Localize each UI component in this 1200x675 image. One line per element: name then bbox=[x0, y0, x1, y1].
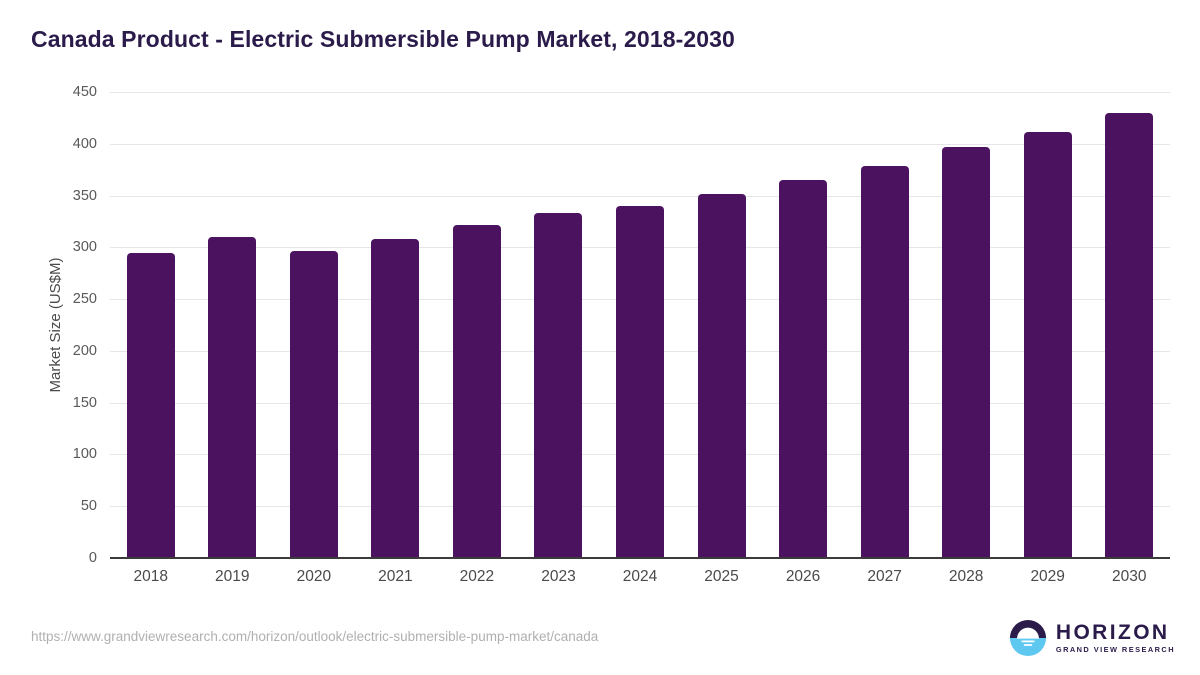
y-tick-label: 450 bbox=[45, 84, 97, 100]
x-tick-label: 2021 bbox=[350, 568, 440, 586]
y-tick-label: 200 bbox=[45, 343, 97, 359]
y-tick-label: 100 bbox=[45, 446, 97, 462]
x-tick-label: 2023 bbox=[513, 568, 603, 586]
y-tick-label: 400 bbox=[45, 136, 97, 152]
bar[interactable] bbox=[453, 225, 501, 558]
x-tick-label: 2019 bbox=[187, 568, 277, 586]
bar[interactable] bbox=[779, 180, 827, 558]
bar[interactable] bbox=[861, 166, 909, 558]
logo-wordmark: HORIZON bbox=[1056, 622, 1175, 643]
x-tick-label: 2018 bbox=[106, 568, 196, 586]
bar[interactable] bbox=[698, 194, 746, 559]
horizon-logo-icon bbox=[1009, 619, 1047, 657]
bar[interactable] bbox=[127, 253, 175, 558]
x-tick-label: 2029 bbox=[1003, 568, 1093, 586]
source-url[interactable]: https://www.grandviewresearch.com/horizo… bbox=[31, 629, 598, 644]
bar[interactable] bbox=[208, 237, 256, 558]
x-tick-label: 2026 bbox=[758, 568, 848, 586]
y-tick-label: 300 bbox=[45, 239, 97, 255]
y-tick-label: 150 bbox=[45, 395, 97, 411]
plot-area bbox=[110, 92, 1170, 558]
x-tick-label: 2028 bbox=[921, 568, 1011, 586]
horizon-logo-text: HORIZON GRAND VIEW RESEARCH bbox=[1056, 622, 1175, 653]
bar[interactable] bbox=[371, 239, 419, 558]
y-tick-label: 350 bbox=[45, 188, 97, 204]
bar[interactable] bbox=[534, 213, 582, 558]
bar[interactable] bbox=[616, 206, 664, 558]
horizon-logo[interactable]: HORIZON GRAND VIEW RESEARCH bbox=[1009, 618, 1175, 658]
y-tick-label: 250 bbox=[45, 291, 97, 307]
bar[interactable] bbox=[942, 147, 990, 558]
gridline bbox=[110, 196, 1170, 197]
y-tick-label: 50 bbox=[45, 498, 97, 514]
logo-tagline: GRAND VIEW RESEARCH bbox=[1056, 646, 1175, 653]
page-title: Canada Product - Electric Submersible Pu… bbox=[31, 26, 735, 53]
gridline bbox=[110, 144, 1170, 145]
bar[interactable] bbox=[1024, 132, 1072, 558]
x-tick-label: 2022 bbox=[432, 568, 522, 586]
x-tick-label: 2024 bbox=[595, 568, 685, 586]
y-tick-label: 0 bbox=[45, 550, 97, 566]
bar[interactable] bbox=[1105, 113, 1153, 558]
x-tick-label: 2020 bbox=[269, 568, 359, 586]
x-axis-line bbox=[110, 557, 1170, 559]
y-axis-tick-labels: 050100150200250300350400450 bbox=[45, 92, 97, 558]
x-tick-label: 2027 bbox=[840, 568, 930, 586]
x-tick-label: 2025 bbox=[677, 568, 767, 586]
chart-page: Canada Product - Electric Submersible Pu… bbox=[0, 0, 1200, 675]
x-tick-label: 2030 bbox=[1084, 568, 1174, 586]
bar[interactable] bbox=[290, 251, 338, 558]
gridline bbox=[110, 92, 1170, 93]
